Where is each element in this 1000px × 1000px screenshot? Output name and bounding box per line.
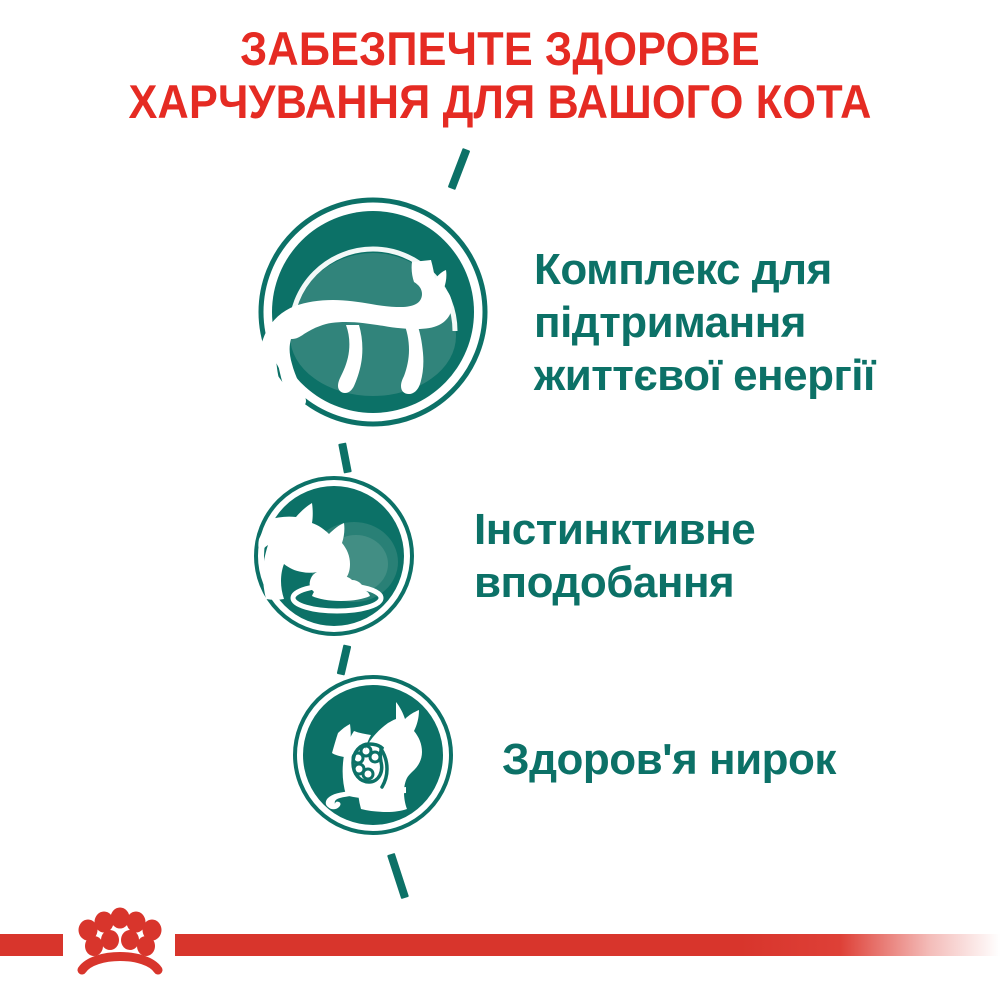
- connector-dash-bottom: [387, 853, 409, 899]
- connector-dash-top: [448, 148, 471, 190]
- connector-dash-1: [338, 443, 352, 474]
- page-title: ЗАБЕЗПЕЧТЕ ЗДОРОВЕ ХАРЧУВАННЯ ДЛЯ ВАШОГО…: [40, 22, 960, 128]
- walking-cat-icon: [258, 197, 488, 427]
- cat-eating-from-bowl-icon: [254, 476, 414, 636]
- royal-canin-crown-logo: [62, 900, 178, 976]
- feature-label-2: Інстинктивне вподобання: [474, 503, 904, 609]
- infographic-page: ЗАБЕЗПЕЧТЕ ЗДОРОВЕ ХАРЧУВАННЯ ДЛЯ ВАШОГО…: [0, 0, 1000, 1000]
- feature-label-3: Здоров'я нирок: [502, 733, 942, 786]
- feature-label-1: Комплекс для підтримання життєвої енергі…: [534, 243, 984, 402]
- connector-dash-2: [337, 644, 352, 675]
- cat-kidney-health-icon: [293, 675, 453, 835]
